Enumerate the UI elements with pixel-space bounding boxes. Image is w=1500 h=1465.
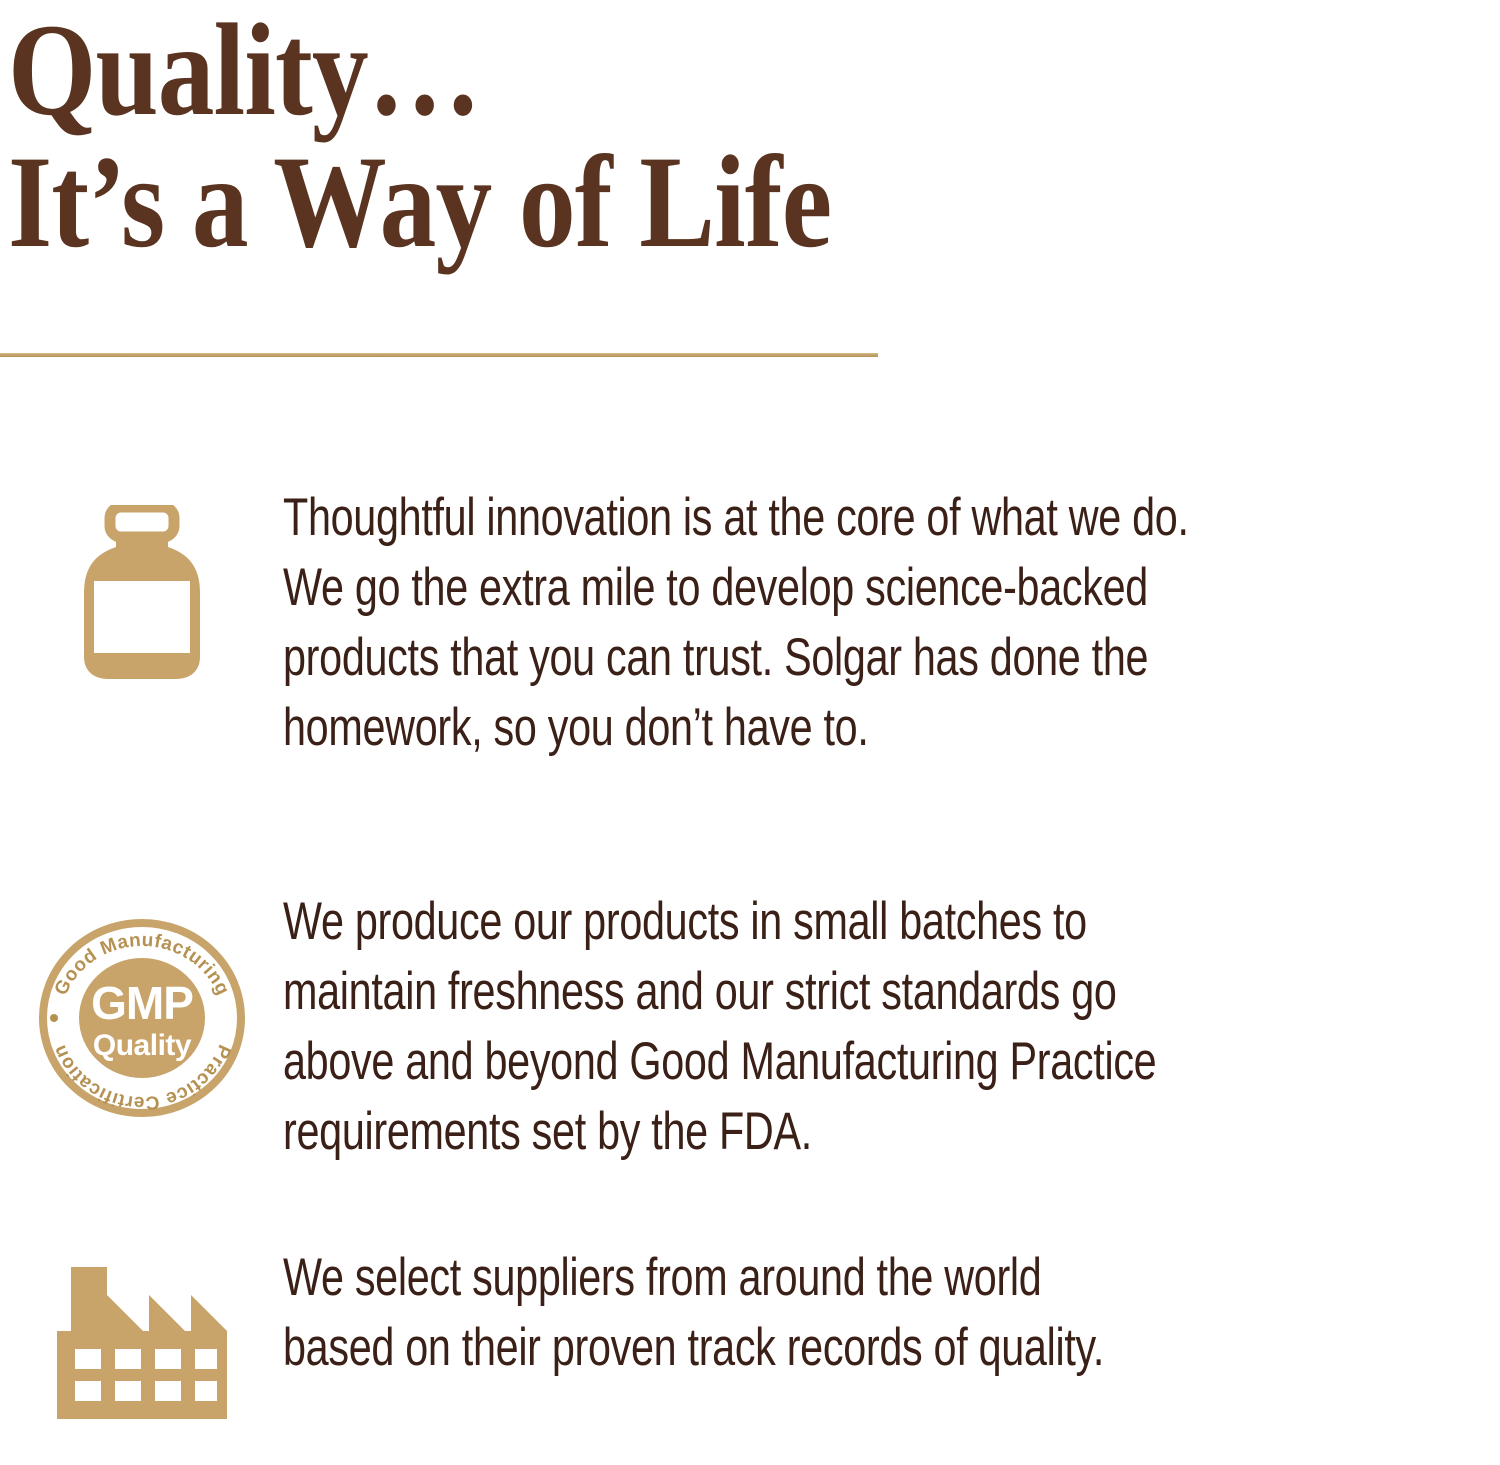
feature-row-innovation: Thoughtful innovation is at the core of …: [0, 455, 1500, 875]
feature-row-suppliers: We select suppliers from around the worl…: [0, 1225, 1500, 1425]
feature-text-innovation: Thoughtful innovation is at the core of …: [283, 455, 1232, 763]
feature-text-suppliers: We select suppliers from around the worl…: [283, 1225, 1232, 1383]
page-title: Quality… It’s a Way of Life: [8, 0, 1208, 270]
section-divider: [0, 353, 878, 357]
feature-line: requirements set by the FDA.: [283, 1097, 1232, 1167]
feature-line: based on their proven track records of q…: [283, 1313, 1232, 1383]
feature-row-gmp: Good Manufacturing Practice Certificatio…: [0, 875, 1500, 1225]
feature-icon-slot: [0, 455, 283, 680]
feature-line: We produce our products in small batches…: [283, 887, 1232, 957]
feature-list: Thoughtful innovation is at the core of …: [0, 455, 1500, 1425]
gmp-inner-line-2: Quality: [92, 1029, 191, 1062]
feature-line: maintain freshness and our strict standa…: [283, 957, 1232, 1027]
gmp-quality-seal-icon: Good Manufacturing Practice Certificatio…: [35, 915, 249, 1121]
feature-line: We select suppliers from around the worl…: [283, 1243, 1232, 1313]
feature-line: products that you can trust. Solgar has …: [283, 623, 1232, 693]
gmp-star-separator-icon: [50, 1014, 58, 1022]
supplement-bottle-icon: [82, 505, 202, 680]
feature-line: We go the extra mile to develop science-…: [283, 553, 1232, 623]
factory-icon: [57, 1265, 227, 1420]
feature-icon-slot: [0, 1225, 283, 1420]
headline-line-1: Quality…: [8, 2, 1040, 138]
feature-icon-slot: Good Manufacturing Practice Certificatio…: [0, 875, 283, 1121]
gmp-inner-line-1: GMP: [91, 977, 193, 1029]
feature-line: Thoughtful innovation is at the core of …: [283, 483, 1232, 553]
feature-line: homework, so you don’t have to.: [283, 693, 1232, 763]
headline-line-2: It’s a Way of Life: [8, 134, 1040, 270]
feature-text-gmp: We produce our products in small batches…: [283, 875, 1232, 1167]
feature-line: above and beyond Good Manufacturing Prac…: [283, 1027, 1232, 1097]
